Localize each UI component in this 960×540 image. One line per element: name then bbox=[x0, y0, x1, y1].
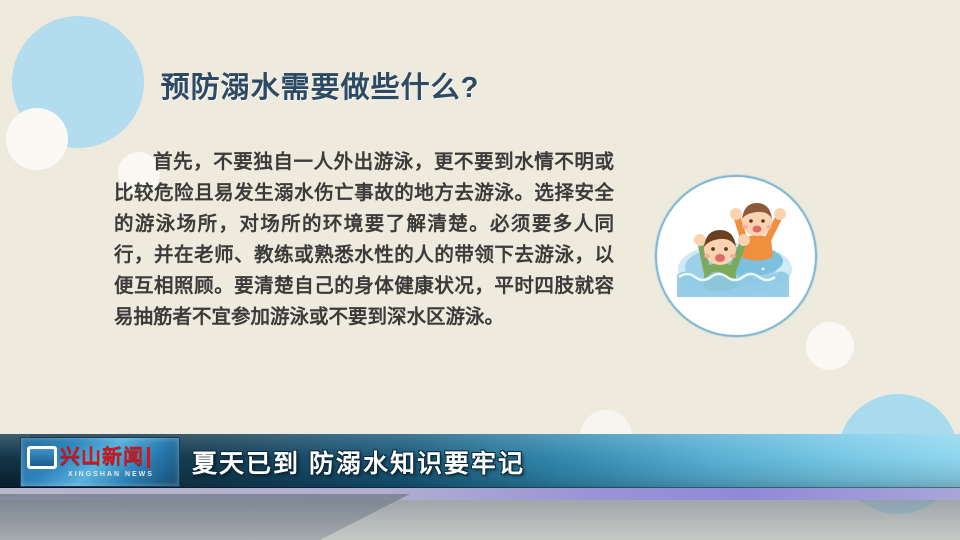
drowning-illustration-svg bbox=[657, 177, 811, 331]
banner-headline: 夏天已到 防溺水知识要牢记 bbox=[192, 444, 525, 480]
body-paragraph: 首先，不要独自一人外出游泳，更不要到水情不明或比较危险且易发生溺水伤亡事故的地方… bbox=[114, 146, 614, 332]
decor-circle-white-left-upper bbox=[6, 108, 68, 170]
station-logo-divider-bar bbox=[147, 447, 150, 468]
station-logo-english-text: XINGSHAN NEWS bbox=[51, 471, 171, 478]
station-logo-chinese-text: 兴山新闻 bbox=[60, 447, 144, 467]
station-logo-inner: 兴山新闻 bbox=[27, 443, 167, 471]
drowning-children-illustration bbox=[655, 175, 817, 337]
tv-screen-icon bbox=[27, 446, 57, 469]
news-broadcast-slide: 预防溺水需要做些什么? 首先，不要独自一人外出游泳，更不要到水情不明或比较危险且… bbox=[0, 0, 960, 540]
page-title: 预防溺水需要做些什么? bbox=[0, 64, 640, 106]
station-logo: 兴山新闻 XINGSHAN NEWS bbox=[20, 437, 180, 487]
decor-circle-white-right bbox=[806, 322, 854, 370]
